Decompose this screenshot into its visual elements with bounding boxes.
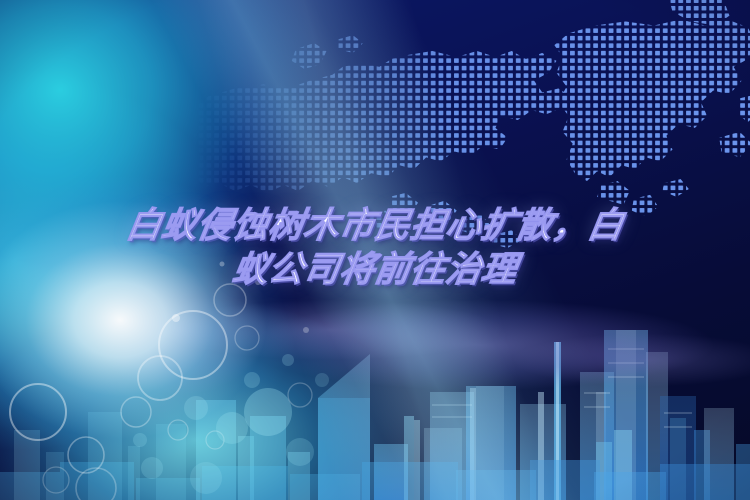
headline-block: 白蚁侵蚀树木市民担心扩散，白 蚁公司将前往治理	[0, 204, 750, 292]
headline-line-2: 蚁公司将前往治理	[21, 248, 730, 292]
headline-line-1: 白蚁侵蚀树木市民担心扩散，白	[21, 204, 730, 248]
banner-image: 白蚁侵蚀树木市民担心扩散，白 蚁公司将前往治理	[0, 0, 750, 500]
